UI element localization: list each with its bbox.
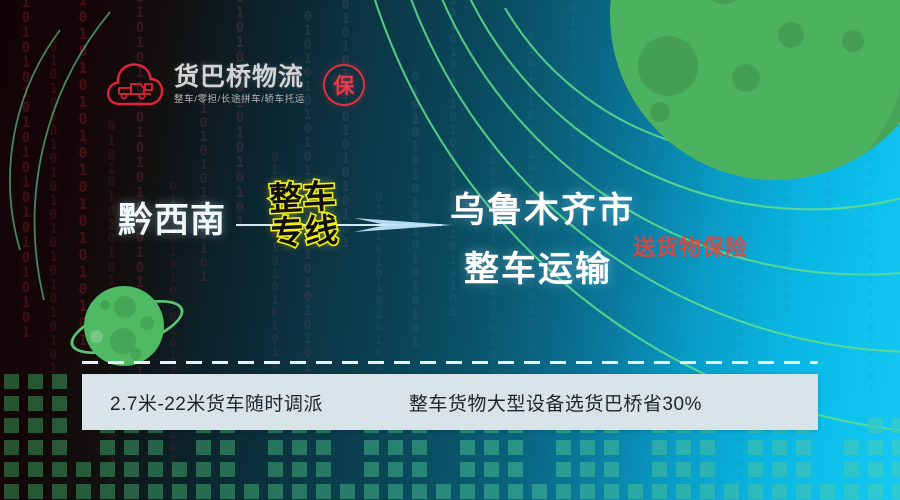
decor-square — [244, 484, 259, 499]
decor-square — [604, 462, 619, 477]
decor-square — [892, 418, 900, 433]
decor-square — [100, 462, 115, 477]
insurance-badge-icon: 保 — [323, 64, 365, 106]
decor-square — [76, 462, 91, 477]
decor-square — [4, 418, 19, 433]
decor-square — [460, 440, 475, 455]
decor-square — [676, 484, 691, 499]
binary-code-column: 010101010101010101 — [232, 0, 248, 230]
decor-square — [676, 462, 691, 477]
decor-square — [604, 440, 619, 455]
decor-square — [556, 440, 571, 455]
decor-square — [100, 440, 115, 455]
decor-square — [196, 462, 211, 477]
decor-square — [28, 374, 43, 389]
decor-square — [796, 484, 811, 499]
route-type-badge: 整车 专线 — [250, 163, 359, 266]
decor-square — [268, 484, 283, 499]
decor-square — [772, 440, 787, 455]
decor-square — [148, 484, 163, 499]
insurance-note: 送货物保险 — [633, 230, 748, 262]
decor-square — [772, 462, 787, 477]
decor-square — [436, 484, 451, 499]
decor-square — [532, 484, 547, 499]
decor-square — [772, 484, 787, 499]
decor-square — [100, 484, 115, 499]
decor-square — [604, 484, 619, 499]
info-bar-left-text: 2.7米-22米货车随时调派 — [110, 389, 323, 416]
decor-square — [52, 396, 67, 411]
binary-code-column: 010101010101010101010101 — [18, 0, 34, 340]
decor-square — [4, 374, 19, 389]
decor-square — [868, 440, 883, 455]
decor-square — [148, 440, 163, 455]
decor-square — [4, 462, 19, 477]
decor-square — [412, 484, 427, 499]
decor-square — [52, 440, 67, 455]
planet-small-icon — [72, 278, 176, 382]
decor-square — [868, 484, 883, 499]
decor-square — [76, 484, 91, 499]
decor-square — [412, 440, 427, 455]
decor-square — [748, 484, 763, 499]
decor-square — [364, 462, 379, 477]
decor-square — [196, 484, 211, 499]
decor-square — [652, 484, 667, 499]
decor-square — [220, 440, 235, 455]
decor-square — [148, 462, 163, 477]
decor-square — [4, 484, 19, 499]
decor-square — [196, 440, 211, 455]
decor-square — [556, 462, 571, 477]
decor-square — [28, 440, 43, 455]
destination-city-label: 乌鲁木齐市 — [450, 182, 635, 233]
decor-square — [124, 484, 139, 499]
decor-square — [340, 484, 355, 499]
decor-square — [820, 484, 835, 499]
decor-square — [28, 484, 43, 499]
decor-square — [580, 440, 595, 455]
decor-square — [796, 462, 811, 477]
decor-square — [52, 374, 67, 389]
decor-square — [220, 484, 235, 499]
info-bar: 2.7米-22米货车随时调派 整车货物大型设备选货巴桥省30% — [82, 374, 818, 430]
decor-square — [724, 484, 739, 499]
decor-square — [28, 462, 43, 477]
decor-square — [892, 462, 900, 477]
decor-square — [268, 462, 283, 477]
advertisement-banner: 0101010101010101010101010101010101010101… — [0, 0, 900, 500]
decor-square — [748, 440, 763, 455]
decor-square — [316, 462, 331, 477]
decor-square — [628, 484, 643, 499]
decor-square — [892, 440, 900, 455]
decor-square — [124, 462, 139, 477]
decor-square — [412, 462, 427, 477]
decor-square — [580, 484, 595, 499]
decor-square — [892, 484, 900, 499]
decor-square — [844, 484, 859, 499]
decor-square — [484, 484, 499, 499]
decor-square — [868, 418, 883, 433]
binary-code-column: 01010101010101010101 — [408, 70, 423, 350]
decor-square — [52, 462, 67, 477]
binary-code-column: 0101010101010101010101 — [864, 130, 877, 394]
decor-square — [172, 462, 187, 477]
decor-square — [484, 462, 499, 477]
decor-square — [796, 440, 811, 455]
info-bar-right-text: 整车货物大型设备选货巴桥省30% — [409, 389, 702, 416]
decor-square — [292, 462, 307, 477]
decor-square — [292, 484, 307, 499]
decor-square — [748, 462, 763, 477]
decor-square — [292, 440, 307, 455]
brand-logo[interactable]: 货巴桥物流 整车/零担/长途拼车/轿车托运 保 — [104, 60, 365, 110]
decor-square — [4, 396, 19, 411]
decor-square — [124, 440, 139, 455]
binary-code-column: 010101010101010101010101 — [46, 40, 61, 376]
planet-large-icon — [610, 0, 900, 180]
decor-square — [652, 440, 667, 455]
decor-square — [700, 462, 715, 477]
decor-square — [868, 462, 883, 477]
destination-service-label: 整车运输 — [464, 241, 635, 292]
binary-code-column: 0101010101010101010101010101 — [734, 170, 747, 500]
decor-square — [220, 462, 235, 477]
decor-square — [676, 440, 691, 455]
decor-square — [508, 484, 523, 499]
decor-square — [460, 484, 475, 499]
decor-square — [460, 462, 475, 477]
decor-square — [556, 484, 571, 499]
decor-square — [268, 440, 283, 455]
decor-square — [484, 440, 499, 455]
origin-city-label: 黔西南 — [118, 192, 226, 243]
cloud-truck-logo-icon — [104, 60, 166, 110]
route-badge-line2: 专线 — [270, 213, 340, 250]
decor-square — [52, 484, 67, 499]
decor-square — [580, 462, 595, 477]
decor-square — [316, 440, 331, 455]
decor-square — [388, 484, 403, 499]
decor-square — [652, 462, 667, 477]
dashed-divider — [82, 361, 818, 364]
destination-block: 乌鲁木齐市 整车运输 — [450, 182, 635, 292]
decor-square — [28, 396, 43, 411]
brand-name: 货巴桥物流 — [174, 65, 305, 90]
decor-square — [700, 440, 715, 455]
decor-square — [508, 440, 523, 455]
decor-square — [364, 484, 379, 499]
decor-square — [52, 418, 67, 433]
decor-square — [388, 462, 403, 477]
decor-square — [364, 440, 379, 455]
decor-square — [700, 484, 715, 499]
decor-square — [844, 440, 859, 455]
decor-square — [316, 484, 331, 499]
decor-square — [28, 418, 43, 433]
decor-square — [172, 484, 187, 499]
decor-square — [388, 440, 403, 455]
decor-square — [508, 462, 523, 477]
brand-subtitle: 整车/零担/长途拼车/轿车托运 — [174, 95, 305, 105]
decor-square — [4, 440, 19, 455]
decor-square — [844, 462, 859, 477]
